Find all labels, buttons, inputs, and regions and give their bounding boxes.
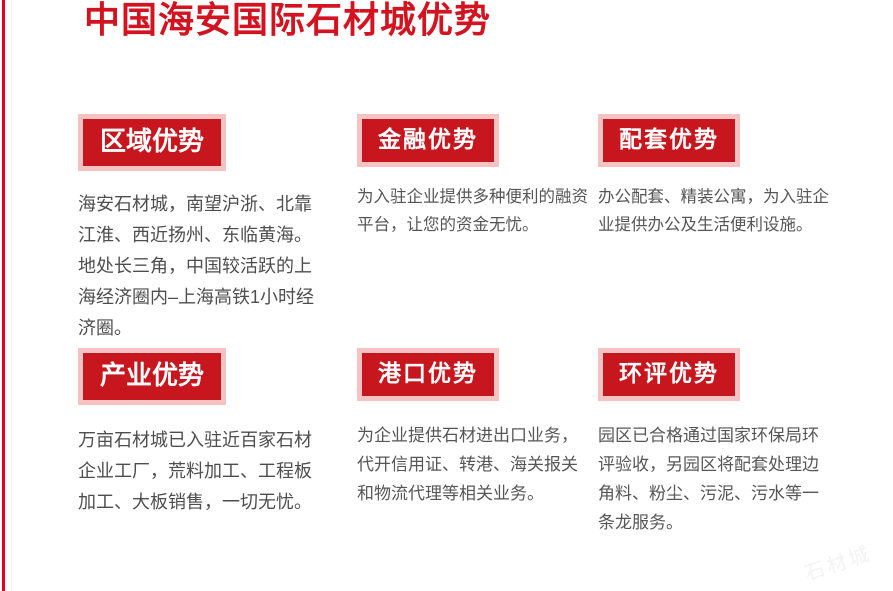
badge-facilities-label: 配套优势 (603, 119, 735, 162)
badge-industry: 产业优势 (78, 348, 226, 405)
left-red-rule (2, 0, 5, 591)
badge-regional: 区域优势 (78, 114, 226, 171)
advantage-port-text: 为企业提供石材进出口业务，代开信用证、转港、海关报关和物流代理等相关业务。 (357, 421, 589, 508)
advantage-financial-text: 为入驻企业提供多种便利的融资平台，让您的资金无忧。 (357, 183, 589, 239)
badge-environmental-label: 环评优势 (603, 353, 735, 396)
background-watermark: 石材城 (800, 537, 875, 586)
badge-financial: 金融优势 (357, 114, 499, 167)
badge-financial-label: 金融优势 (362, 119, 494, 162)
left-hairline-divider (11, 0, 12, 591)
advantage-card-port: 港口优势 为企业提供石材进出口业务，代开信用证、转港、海关报关和物流代理等相关业… (357, 348, 592, 508)
page-title: 中国海安国际石材城优势 (84, 0, 491, 44)
advantage-regional-text: 海安石材城，南望沪浙、北靠江淮、西近扬州、东临黄海。地处长三角，中国较活跃的上海… (78, 189, 318, 344)
advantage-industry-text: 万亩石材城已入驻近百家石材企业工厂，荒料加工、工程板加工、大板销售，一切无忧。 (78, 425, 318, 518)
advantage-card-regional: 区域优势 海安石材城，南望沪浙、北靠江淮、西近扬州、东临黄海。地处长三角，中国较… (78, 114, 323, 344)
advantages-page: 中国海安国际石材城优势 区域优势 海安石材城，南望沪浙、北靠江淮、西近扬州、东临… (0, 0, 893, 591)
badge-port: 港口优势 (357, 348, 499, 401)
advantage-card-financial: 金融优势 为入驻企业提供多种便利的融资平台，让您的资金无忧。 (357, 114, 592, 239)
advantage-card-industry: 产业优势 万亩石材城已入驻近百家石材企业工厂，荒料加工、工程板加工、大板销售，一… (78, 348, 323, 518)
advantage-environmental-text: 园区已合格通过国家环保局环评验收，另园区将配套处理边角料、粉尘、污泥、污水等一条… (598, 421, 834, 537)
badge-port-label: 港口优势 (362, 353, 494, 396)
advantage-card-facilities: 配套优势 办公配套、精装公寓，为入驻企业提供办公及生活便利设施。 (598, 114, 838, 239)
badge-industry-label: 产业优势 (83, 353, 221, 400)
advantage-facilities-text: 办公配套、精装公寓，为入驻企业提供办公及生活便利设施。 (598, 183, 834, 239)
badge-facilities: 配套优势 (598, 114, 740, 167)
advantage-card-environmental: 环评优势 园区已合格通过国家环保局环评验收，另园区将配套处理边角料、粉尘、污泥、… (598, 348, 838, 537)
badge-environmental: 环评优势 (598, 348, 740, 401)
badge-regional-label: 区域优势 (83, 119, 221, 166)
